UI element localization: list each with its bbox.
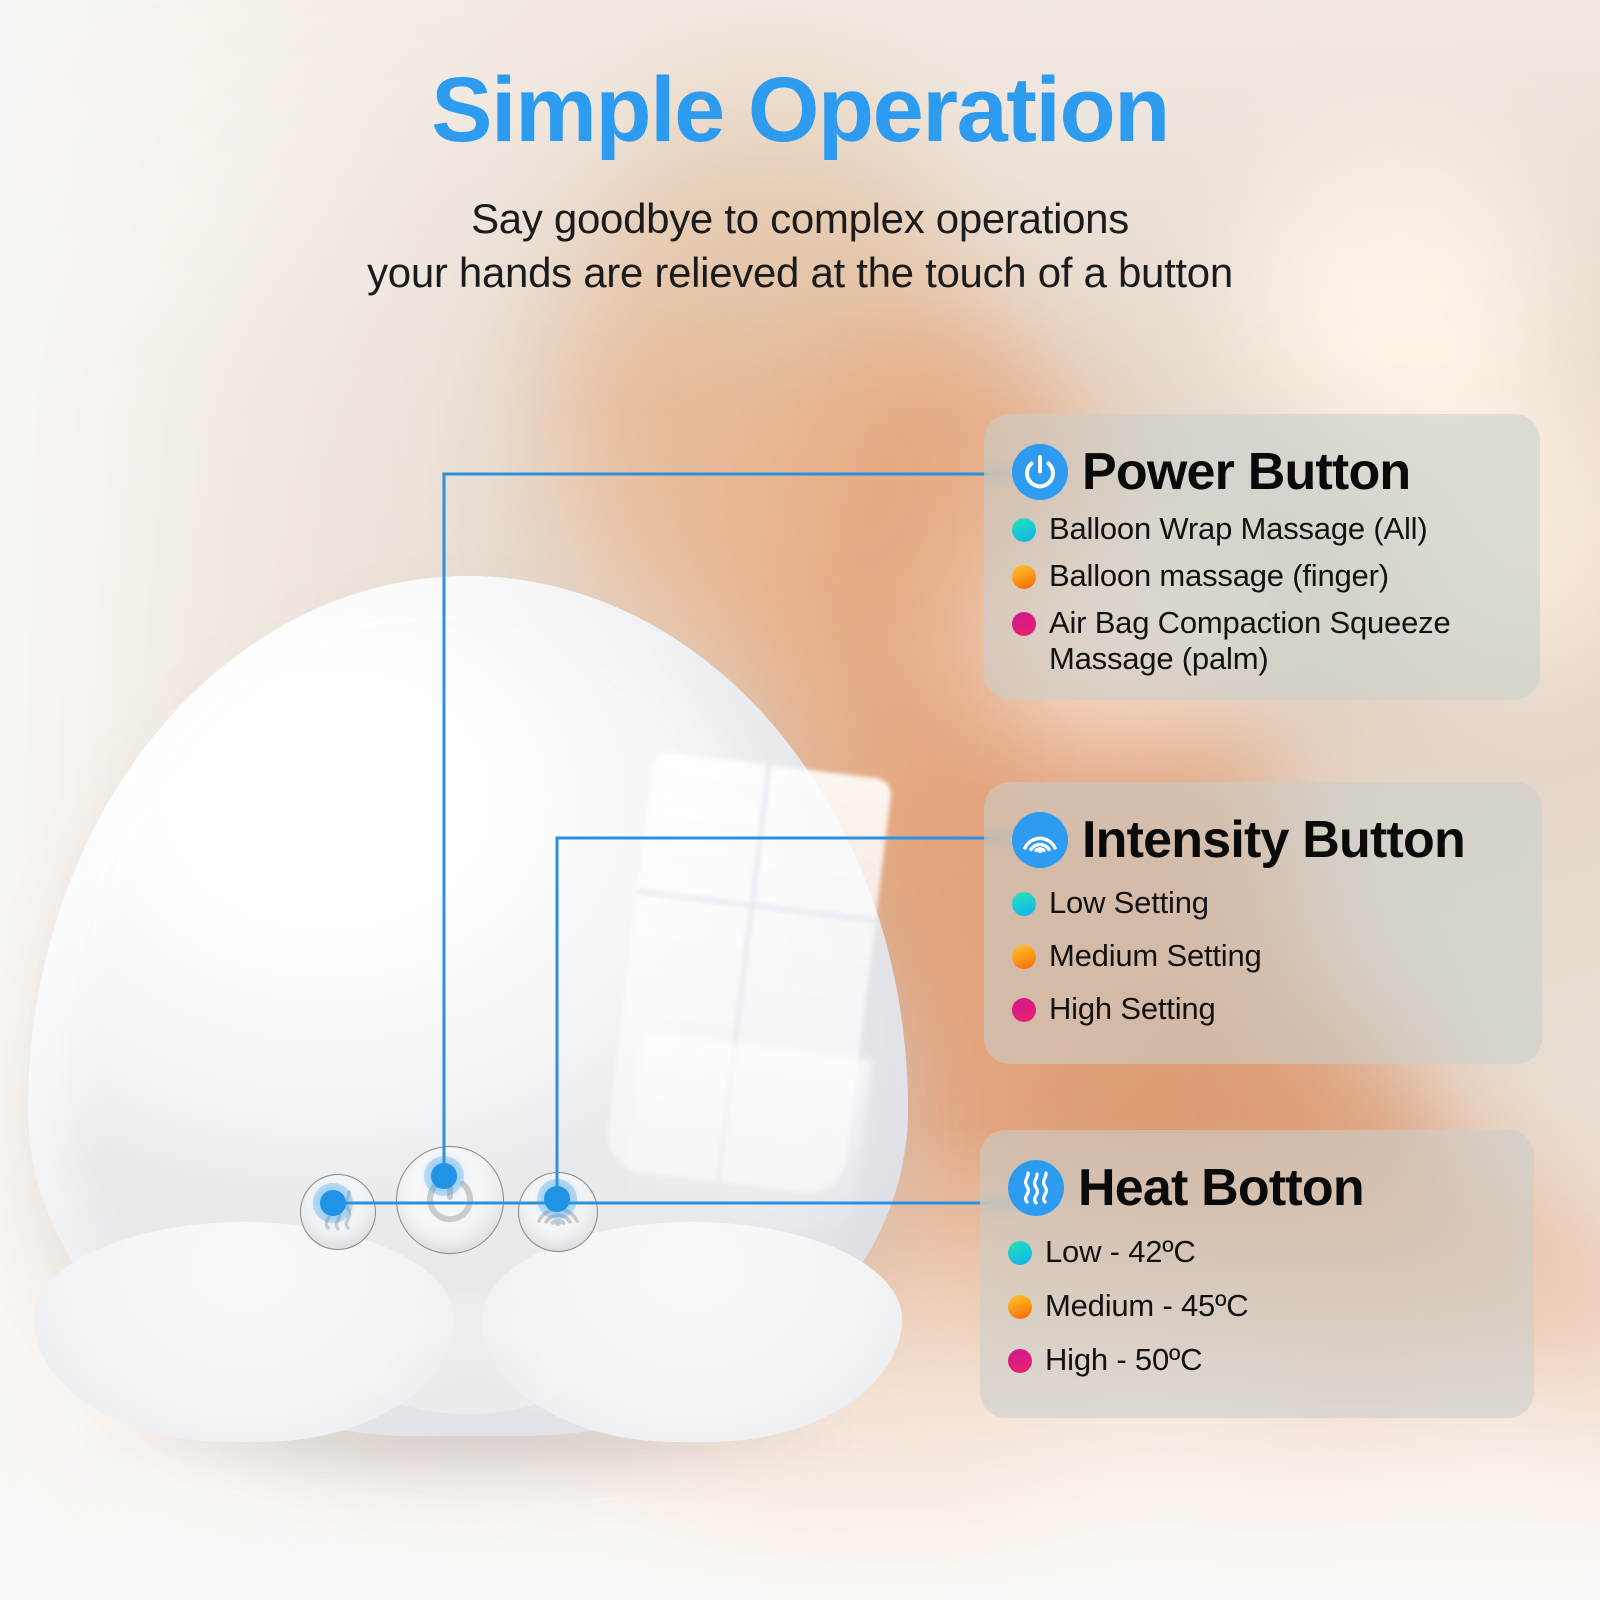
bullet-dot-magenta	[1012, 612, 1036, 636]
heat-waves-icon	[1008, 1160, 1064, 1216]
bullet-dot-teal	[1012, 892, 1036, 916]
bullet-dot-orange	[1012, 945, 1036, 969]
bullet-text: High Setting	[1049, 991, 1215, 1027]
bullet-item: High Setting	[1012, 991, 1512, 1027]
connector-anchor-power	[431, 1163, 457, 1189]
bullet-text: High - 50ºC	[1045, 1342, 1202, 1378]
signal-waves-icon	[1012, 812, 1068, 868]
subtitle-line-2: your hands are relieved at the touch of …	[0, 246, 1600, 300]
bullet-item: Balloon Wrap Massage (All)	[1012, 511, 1510, 547]
bullet-dot-orange	[1012, 565, 1036, 589]
device-window-reflection-lower	[622, 1033, 872, 1240]
panel-title-power: Power Button	[1082, 446, 1410, 498]
bullet-text: Air Bag Compaction Squeeze Massage (palm…	[1049, 605, 1510, 677]
bullet-item: High - 50ºC	[1008, 1342, 1504, 1378]
bullet-item: Medium - 45ºC	[1008, 1288, 1504, 1324]
bullet-item: Air Bag Compaction Squeeze Massage (palm…	[1012, 605, 1510, 677]
bullet-dot-teal	[1012, 518, 1036, 542]
bullet-dot-magenta	[1012, 998, 1036, 1022]
panel-header-intensity: Intensity Button	[1012, 812, 1512, 868]
bullet-item: Low Setting	[1012, 885, 1512, 921]
panel-header-power: Power Button	[1012, 444, 1510, 500]
panel-bullets-intensity: Low Setting Medium Setting High Setting	[1012, 885, 1512, 1027]
power-icon	[1012, 444, 1068, 500]
bullet-text: Low - 42ºC	[1045, 1234, 1196, 1270]
panel-header-heat: Heat Botton	[1008, 1160, 1504, 1216]
callout-panel-intensity: Intensity Button Low Setting Medium Sett…	[984, 782, 1542, 1064]
bullet-item: Low - 42ºC	[1008, 1234, 1504, 1270]
bullet-dot-orange	[1008, 1295, 1032, 1319]
panel-bullets-power: Balloon Wrap Massage (All) Balloon massa…	[1012, 511, 1510, 677]
bullet-text: Low Setting	[1049, 885, 1209, 921]
device-bottom-notch	[343, 1294, 593, 1414]
bullet-text: Medium - 45ºC	[1045, 1288, 1248, 1324]
hand-massager-device	[28, 576, 908, 1436]
page-subtitle: Say goodbye to complex operations your h…	[0, 192, 1600, 300]
connector-anchor-intensity	[544, 1186, 570, 1212]
bullet-text: Balloon Wrap Massage (All)	[1049, 511, 1427, 547]
callout-panel-heat: Heat Botton Low - 42ºC Medium - 45ºC Hig…	[980, 1130, 1534, 1418]
panel-title-heat: Heat Botton	[1078, 1162, 1364, 1214]
panel-bullets-heat: Low - 42ºC Medium - 45ºC High - 50ºC	[1008, 1234, 1504, 1378]
bullet-item: Balloon massage (finger)	[1012, 558, 1510, 594]
bullet-dot-teal	[1008, 1241, 1032, 1265]
connector-anchor-heat	[320, 1190, 346, 1216]
page-title: Simple Operation	[0, 62, 1600, 159]
device-intensity-button[interactable]	[518, 1172, 598, 1252]
bullet-item: Medium Setting	[1012, 938, 1512, 974]
panel-title-intensity: Intensity Button	[1082, 814, 1465, 866]
bullet-dot-magenta	[1008, 1349, 1032, 1373]
bullet-text: Medium Setting	[1049, 938, 1262, 974]
bullet-text: Balloon massage (finger)	[1049, 558, 1389, 594]
device-power-button[interactable]	[396, 1146, 504, 1254]
subtitle-line-1: Say goodbye to complex operations	[0, 192, 1600, 246]
callout-panel-power: Power Button Balloon Wrap Massage (All) …	[984, 414, 1540, 700]
infographic-canvas: Simple Operation Say goodbye to complex …	[0, 0, 1600, 1600]
